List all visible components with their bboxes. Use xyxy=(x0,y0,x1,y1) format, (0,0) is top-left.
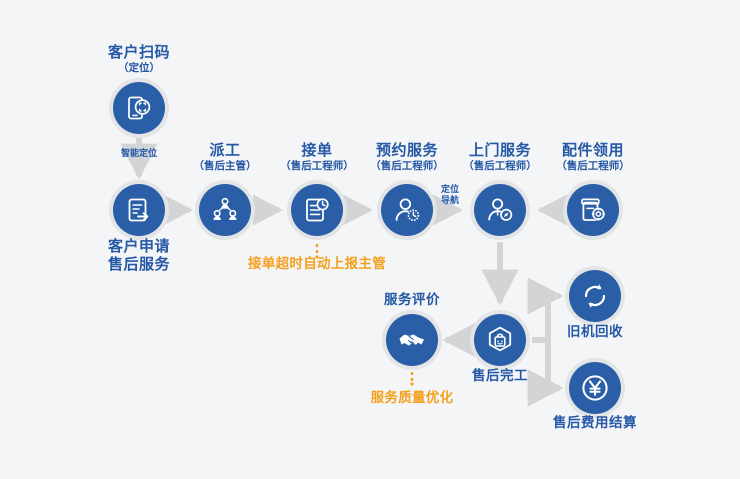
label-apply: 客户申请 售后服务 xyxy=(79,238,199,273)
label-parts-subtitle: （售后工程师） xyxy=(533,160,653,172)
person-badge-icon xyxy=(486,196,514,224)
node-parts[interactable] xyxy=(563,180,623,240)
node-onsite[interactable] xyxy=(470,180,530,240)
connector-service-quality-dashed xyxy=(410,372,413,386)
parts-box-icon xyxy=(579,196,607,224)
node-settlement[interactable] xyxy=(565,358,625,418)
label-complete-title: 售后完工 xyxy=(440,368,560,384)
node-disc xyxy=(567,184,619,236)
label-complete: 售后完工 xyxy=(440,368,560,384)
warning-service-quality: 服务质量优化 xyxy=(342,386,482,406)
node-disc xyxy=(474,314,526,366)
node-disc xyxy=(386,314,438,366)
node-complete[interactable] xyxy=(470,310,530,370)
label-review: 服务评价 xyxy=(352,292,472,308)
edge-label-navigation: 定位 导航 xyxy=(424,184,476,207)
node-dispatch[interactable] xyxy=(195,180,255,240)
shield-bag-icon xyxy=(485,325,515,355)
label-scan: 客户扫码 （定位） xyxy=(79,44,199,74)
label-apply-title: 客户申请 xyxy=(79,238,199,256)
label-scan-title: 客户扫码 xyxy=(79,44,199,62)
label-apply-subtitle: 售后服务 xyxy=(79,256,199,274)
node-disc xyxy=(569,362,621,414)
warning-accept-timeout: 接单超时自动上报主管 xyxy=(237,252,397,272)
label-recycle: 旧机回收 xyxy=(535,324,655,340)
node-recycle[interactable] xyxy=(565,266,625,326)
label-settlement: 售后费用结算 xyxy=(525,415,665,431)
label-review-title: 服务评价 xyxy=(352,292,472,308)
label-recycle-title: 旧机回收 xyxy=(535,324,655,340)
edge-label-smart-locate: 智能定位 xyxy=(109,148,169,159)
node-disc xyxy=(569,270,621,322)
node-disc xyxy=(199,184,251,236)
handshake-icon xyxy=(397,325,427,355)
edge-label-nav-line2: 导航 xyxy=(441,195,459,205)
node-apply[interactable] xyxy=(109,180,169,240)
document-arrow-icon xyxy=(125,196,153,224)
node-review[interactable] xyxy=(382,310,442,370)
node-disc xyxy=(291,184,343,236)
label-scan-subtitle: （定位） xyxy=(79,62,199,74)
document-clock-icon xyxy=(303,196,331,224)
phone-scan-icon xyxy=(125,94,153,122)
label-parts: 配件领用 （售后工程师） xyxy=(533,142,653,172)
node-disc xyxy=(113,184,165,236)
node-accept[interactable] xyxy=(287,180,347,240)
edge-label-nav-line1: 定位 xyxy=(441,184,459,194)
team-people-icon xyxy=(211,196,239,224)
node-disc xyxy=(474,184,526,236)
yen-coin-icon xyxy=(580,373,610,403)
person-clock-icon xyxy=(393,196,421,224)
flowchart-canvas: 客户扫码 （定位） 智能定位 xyxy=(0,0,740,479)
label-settlement-title: 售后费用结算 xyxy=(525,415,665,431)
label-parts-title: 配件领用 xyxy=(533,142,653,160)
recycle-arrows-icon xyxy=(580,281,610,311)
node-disc xyxy=(113,82,165,134)
node-scan[interactable] xyxy=(109,78,169,138)
